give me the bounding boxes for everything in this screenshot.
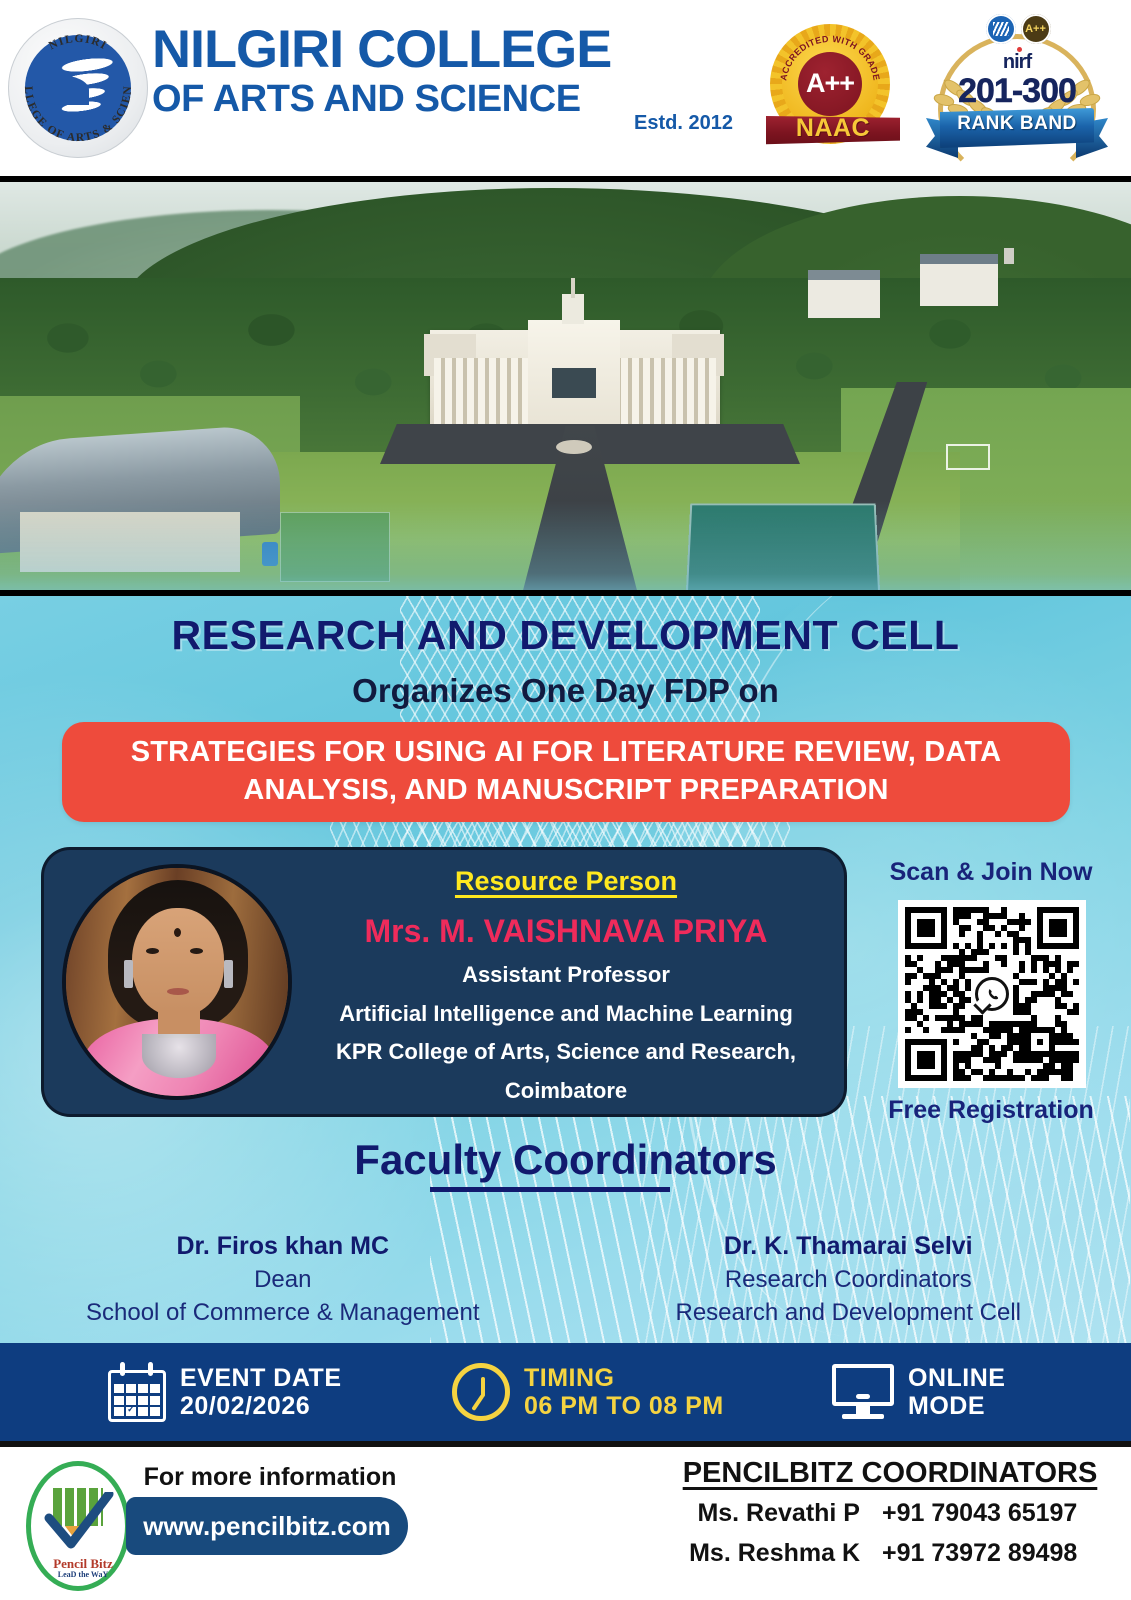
website-button[interactable]: www.pencilbitz.com [126, 1497, 408, 1555]
established-year: Estd. 2012 [634, 112, 733, 135]
resource-person-photo [66, 868, 288, 1096]
resource-person-card: Resource Person Mrs. M. VAISHNAVA PRIYA … [44, 850, 844, 1114]
checkmark-icon [43, 1492, 115, 1550]
pb-coordinator-name: Ms. Revathi P [697, 1499, 860, 1528]
header: NILGIRI COLLEGE OF ARTS & SCIENCE NILGIR… [0, 0, 1131, 176]
subtitle-organizes: Organizes One Day FDP on [0, 672, 1131, 710]
mode-line1: ONLINE [908, 1364, 1005, 1392]
college-name-block: NILGIRI COLLEGE OF ARTS AND SCIENCE [152, 24, 742, 120]
qr-canvas [905, 907, 1079, 1081]
website-url: www.pencilbitz.com [143, 1511, 391, 1542]
topic-line-1: STRATEGIES FOR USING AI FOR LITERATURE R… [131, 736, 1002, 768]
naac-badge: A++ ACCREDITED WITH GRADE NAAC [758, 22, 908, 164]
resource-person-department: Artificial Intelligence and Machine Lear… [306, 1000, 826, 1028]
qr-heading: Scan & Join Now [866, 858, 1116, 887]
pencilbitz-logo-tagline: LeaD the WaY [31, 1570, 135, 1579]
pb-coordinator-phone[interactable]: +91 73972 89498 [882, 1539, 1110, 1568]
coordinator-role: Dean [0, 1266, 566, 1294]
resource-person-city: Coimbatore [306, 1077, 826, 1105]
nirf-ribbon: RANK BAND [926, 104, 1108, 166]
pencilbitz-coordinators-title: PENCILBITZ COORDINATORS [660, 1457, 1120, 1490]
pencilbitz-coordinator-row: Ms. Revathi P +91 79043 65197 [650, 1499, 1110, 1528]
main-content: RESEARCH AND DEVELOPMENT CELL Organizes … [0, 596, 1131, 1343]
faculty-coordinator-item: Dr. Firos khan MC Dean School of Commerc… [0, 1232, 566, 1327]
calendar-icon [108, 1362, 166, 1422]
page-title: RESEARCH AND DEVELOPMENT CELL [0, 612, 1131, 659]
resource-person-designation: Assistant Professor [306, 961, 826, 989]
coordinator-name: Dr. Firos khan MC [0, 1232, 566, 1261]
faculty-coordinators-list: Dr. Firos khan MC Dean School of Commerc… [0, 1232, 1131, 1327]
pb-coordinator-phone[interactable]: +91 79043 65197 [882, 1499, 1110, 1528]
timing-label: TIMING [524, 1364, 724, 1392]
topic-line-2: ANALYSIS, AND MANUSCRIPT PREPARATION [243, 774, 888, 806]
free-registration-label: Free Registration [866, 1096, 1116, 1125]
nirf-rank-value: 201-300 [922, 74, 1112, 108]
nirf-word-text: nirf [1003, 51, 1031, 73]
event-info-bar: EVENT DATE 20/02/2026 TIMING 06 PM TO 08… [0, 1343, 1131, 1441]
college-name-line1: NILGIRI COLLEGE [152, 24, 754, 76]
coordinator-dept: Research and Development Cell [566, 1299, 1131, 1327]
whatsapp-icon [971, 973, 1013, 1015]
resource-person-details: Resource Person Mrs. M. VAISHNAVA PRIYA … [306, 866, 826, 1104]
nirf-ministry-icon [986, 14, 1016, 44]
nirf-label-block: nirf 201-300 [922, 52, 1112, 108]
poster-root: NILGIRI COLLEGE OF ARTS & SCIENCE NILGIR… [0, 0, 1131, 1600]
coordinator-name: Dr. K. Thamarai Selvi [566, 1232, 1131, 1261]
faculty-coordinator-item: Dr. K. Thamarai Selvi Research Coordinat… [566, 1232, 1131, 1327]
topic-text: STRATEGIES FOR USING AI FOR LITERATURE R… [107, 734, 1026, 809]
footer-divider [0, 1441, 1131, 1447]
clock-icon [452, 1363, 510, 1421]
event-date-block: EVENT DATE 20/02/2026 [108, 1362, 342, 1422]
seal-text-ring: NILGIRI COLLEGE OF ARTS & SCIENCE [8, 18, 148, 158]
footer: Pencil Bitz LeaD the WaY For more inform… [0, 1441, 1131, 1600]
faculty-coordinators-underline [430, 1187, 670, 1192]
naac-mini-icon: A++ [1021, 14, 1051, 44]
svg-text:ACCREDITED WITH GRADE: ACCREDITED WITH GRADE [778, 34, 881, 81]
timing-value: 06 PM TO 08 PM [524, 1392, 724, 1420]
more-info-label: For more information [130, 1463, 410, 1492]
event-date-label: EVENT DATE [180, 1364, 342, 1392]
svg-text:NILGIRI: NILGIRI [47, 33, 109, 52]
campus-photo [0, 176, 1131, 596]
qr-code[interactable] [898, 900, 1086, 1088]
naac-ribbon: NAAC [760, 110, 906, 152]
resource-person-institution: KPR College of Arts, Science and Researc… [306, 1038, 826, 1066]
pb-coordinator-name: Ms. Reshma K [689, 1539, 860, 1568]
event-date-value: 20/02/2026 [180, 1392, 342, 1420]
event-mode-block: ONLINE MODE [832, 1364, 1005, 1420]
pencilbitz-logo: Pencil Bitz LeaD the WaY [26, 1461, 130, 1591]
faculty-coordinators-title: Faculty Coordinators [0, 1136, 1131, 1184]
pencilbitz-coordinator-row: Ms. Reshma K +91 73972 89498 [650, 1539, 1110, 1568]
monitor-icon [832, 1364, 894, 1420]
nirf-band-label: RANK BAND [926, 113, 1108, 135]
topic-banner: STRATEGIES FOR USING AI FOR LITERATURE R… [62, 722, 1070, 822]
mode-line2: MODE [908, 1392, 1005, 1420]
naac-ribbon-label: NAAC [760, 114, 906, 143]
resource-person-name: Mrs. M. VAISHNAVA PRIYA [306, 913, 826, 950]
resource-person-label: Resource Person [306, 866, 826, 897]
event-timing-block: TIMING 06 PM TO 08 PM [452, 1363, 724, 1421]
coordinator-dept: School of Commerce & Management [0, 1299, 566, 1327]
college-seal-logo: NILGIRI COLLEGE OF ARTS & SCIENCE [8, 18, 148, 158]
nirf-wordmark: nirf [1003, 52, 1031, 72]
coordinator-role: Research Coordinators [566, 1266, 1131, 1294]
nirf-top-icons: A++ [970, 14, 1066, 48]
nirf-rank-badge: A++ [922, 8, 1112, 168]
